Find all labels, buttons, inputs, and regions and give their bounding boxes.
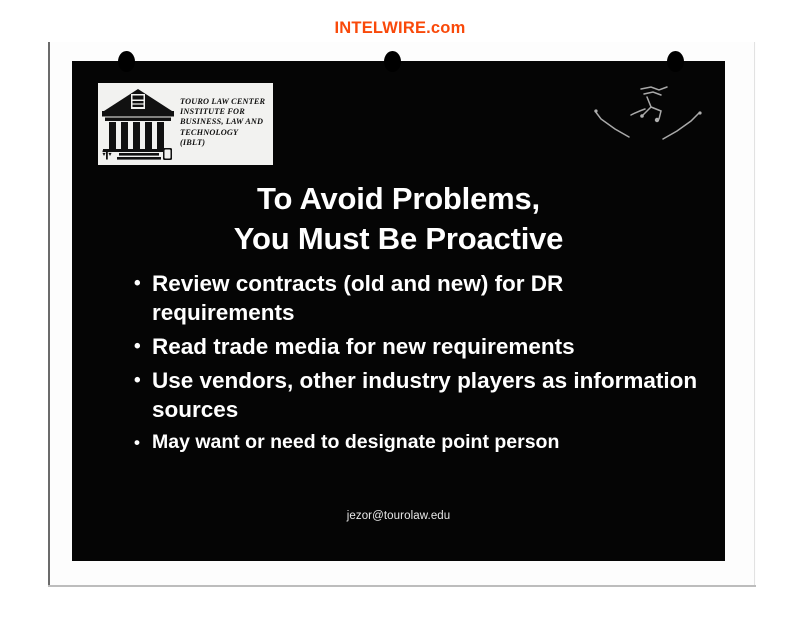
bullet-text-2: Read trade media for new requirements xyxy=(152,332,708,361)
bullet-text-4: May want or need to designate point pers… xyxy=(152,429,708,456)
logo-line-3: BUSINESS, LAW AND xyxy=(180,117,265,127)
bullet-item-2: • Read trade media for new requirements xyxy=(128,332,708,361)
page-left-edge xyxy=(48,42,50,587)
slide-title: To Avoid Problems, You Must Be Proactive xyxy=(72,179,725,259)
bullet-marker-icon: • xyxy=(128,269,152,298)
bullet-item-4: • May want or need to designate point pe… xyxy=(128,429,708,456)
magnet-dot-mid xyxy=(384,51,401,72)
bullet-marker-icon: • xyxy=(128,366,152,395)
intelwire-watermark: INTELWIRE.com xyxy=(0,19,800,38)
logo-line-2: INSTITUTE FOR xyxy=(180,107,265,117)
magnet-dot-left xyxy=(118,51,135,72)
bullet-item-1: • Review contracts (old and new) for DR … xyxy=(128,269,708,327)
touro-law-logo-text: TOURO LAW CENTER INSTITUTE FOR BUSINESS,… xyxy=(180,97,265,148)
slide-bullet-list: • Review contracts (old and new) for DR … xyxy=(128,269,708,461)
magnet-dot-right xyxy=(667,51,684,72)
page-bottom-edge xyxy=(48,585,756,587)
bullet-text-1: Review contracts (old and new) for DR re… xyxy=(152,269,708,327)
logo-line-5: (IBLT) xyxy=(180,138,265,148)
bullet-marker-icon: • xyxy=(128,332,152,361)
slide-title-line-2: You Must Be Proactive xyxy=(72,219,725,259)
line-art-figure xyxy=(589,85,707,157)
slide-title-line-1: To Avoid Problems, xyxy=(72,179,725,219)
footer-email-address: jezor@tourolaw.edu xyxy=(72,510,725,522)
logo-line-1: TOURO LAW CENTER xyxy=(180,97,265,107)
bullet-marker-icon: • xyxy=(128,429,152,456)
presentation-slide: TOURO LAW CENTER INSTITUTE FOR BUSINESS,… xyxy=(72,61,725,561)
logo-line-4: TECHNOLOGY xyxy=(180,128,265,138)
courthouse-building-icon xyxy=(101,86,175,162)
bullet-text-3: Use vendors, other industry players as i… xyxy=(152,366,708,424)
touro-law-logo: TOURO LAW CENTER INSTITUTE FOR BUSINESS,… xyxy=(98,83,273,165)
bullet-item-3: • Use vendors, other industry players as… xyxy=(128,366,708,424)
page-right-edge xyxy=(754,42,755,587)
